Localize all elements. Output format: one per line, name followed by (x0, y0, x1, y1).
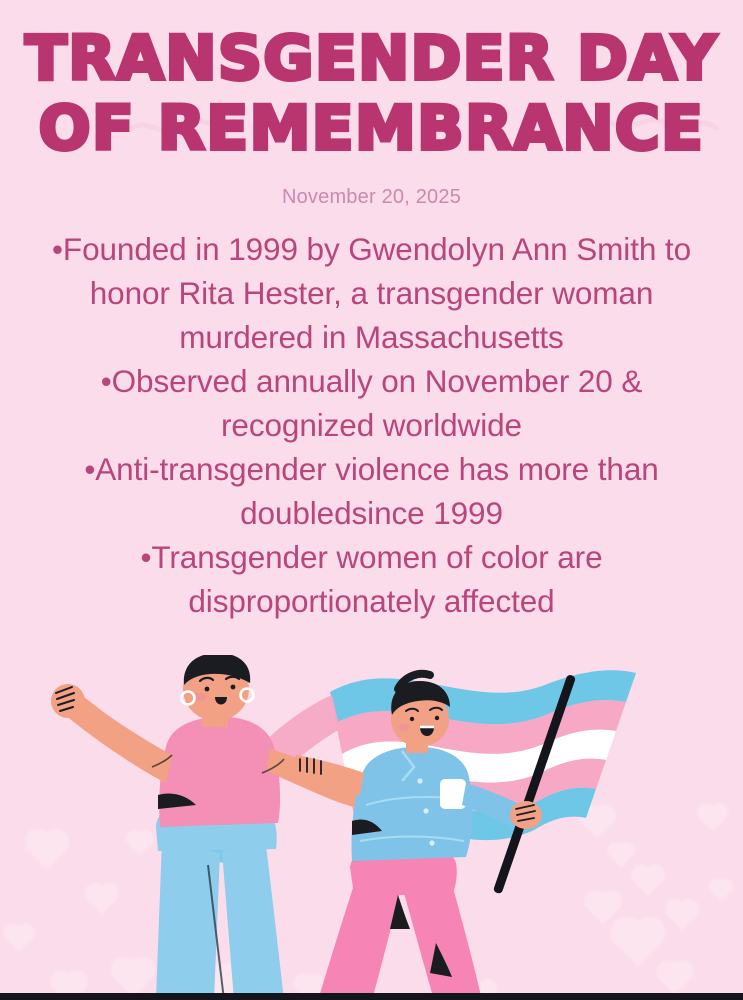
illustration-two-people-with-flag (0, 655, 743, 1000)
list-item: •Founded in 1999 by Gwendolyn Ann Smith … (52, 227, 692, 359)
bottom-frame-edge (0, 993, 743, 1000)
list-item: •Observed annually on November 20 & reco… (52, 359, 692, 447)
list-item: •Transgender women of color are dispropo… (52, 535, 692, 623)
event-date: November 20, 2025 (0, 186, 743, 209)
fact-list: •Founded in 1999 by Gwendolyn Ann Smith … (52, 227, 692, 623)
title-line-1: Transgender Day (0, 28, 743, 90)
title-line-2: of Remembrance (0, 98, 743, 160)
poster: Transgender Day of Remembrance November … (0, 0, 743, 1000)
list-item: •Anti-transgender violence has more than… (52, 447, 692, 535)
page-title: Transgender Day of Remembrance (0, 0, 743, 160)
